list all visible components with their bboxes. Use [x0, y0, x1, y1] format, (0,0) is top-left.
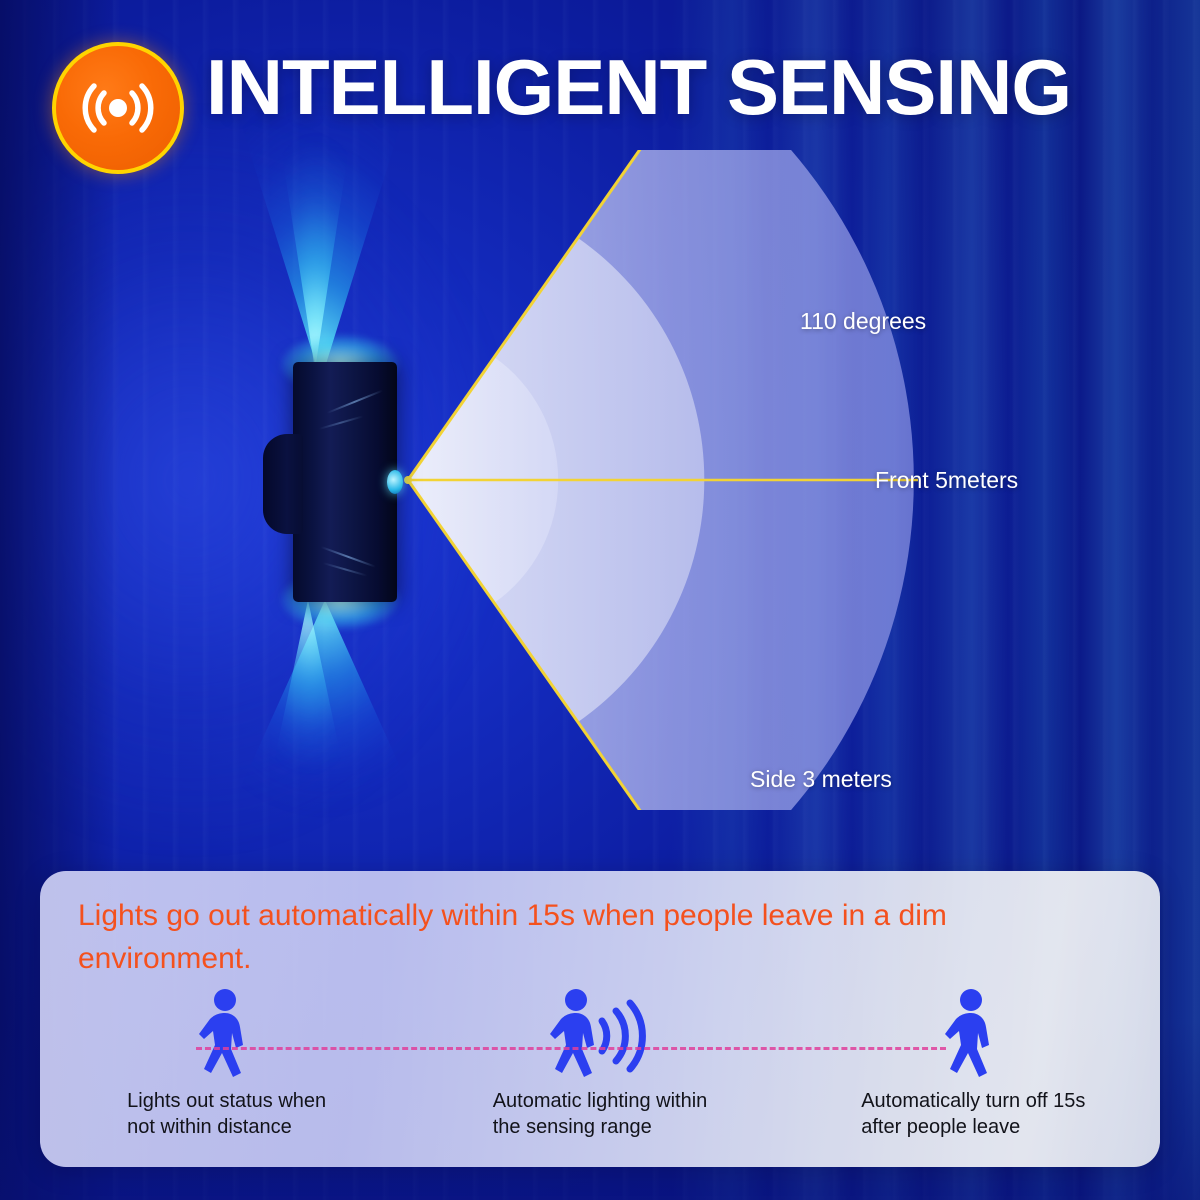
step-caption-line1: Lights out status when — [127, 1089, 326, 1115]
sensing-range-diagram — [398, 150, 918, 810]
lamp-wall-mount — [263, 434, 303, 534]
step-item: Lights out status when not within distan… — [40, 983, 413, 1153]
step-caption-line2: after people leave — [861, 1115, 1085, 1141]
walking-person-sensing-icon — [546, 987, 654, 1079]
fan-apex-point — [404, 476, 412, 484]
panel-note-text: Lights go out automatically within 15s w… — [78, 895, 1118, 980]
step-icon-box — [941, 983, 1005, 1079]
step-caption: Automatically turn off 15s after people … — [861, 1089, 1085, 1140]
label-sensing-angle: 110 degrees — [800, 308, 926, 335]
label-front-distance: Front 5meters — [875, 467, 1018, 494]
step-item: Automatically turn off 15s after people … — [787, 983, 1160, 1153]
infographic-canvas: INTELLIGENT SENSING 110 degrees Front 5m… — [0, 0, 1200, 1200]
step-item: Automatic lighting within the sensing ra… — [413, 983, 786, 1153]
lamp-body — [293, 362, 397, 602]
page-title: INTELLIGENT SENSING — [206, 48, 1166, 126]
steps-row: Lights out status when not within distan… — [40, 983, 1160, 1153]
info-panel: Lights go out automatically within 15s w… — [40, 871, 1160, 1167]
wall-lamp — [275, 352, 405, 612]
walking-person-icon — [195, 987, 259, 1079]
step-caption: Automatic lighting within the sensing ra… — [493, 1089, 708, 1140]
step-caption-line2: the sensing range — [493, 1115, 708, 1141]
step-icon-box — [546, 983, 654, 1079]
step-icon-box — [195, 983, 259, 1079]
step-caption: Lights out status when not within distan… — [127, 1089, 326, 1140]
lamp-highlight-streak — [323, 562, 368, 577]
intelligent-sensing-badge — [52, 42, 184, 174]
label-side-distance: Side 3 meters — [750, 766, 892, 793]
sensor-waves-icon — [76, 66, 160, 150]
sensing-dash-line — [196, 1047, 946, 1050]
pir-sensor-dot — [387, 470, 403, 494]
step-caption-line1: Automatic lighting within — [493, 1089, 708, 1115]
lamp-highlight-streak — [327, 390, 383, 414]
walking-person-icon — [941, 987, 1005, 1079]
step-caption-line2: not within distance — [127, 1115, 326, 1141]
lamp-highlight-streak — [319, 415, 364, 430]
step-caption-line1: Automatically turn off 15s — [861, 1089, 1085, 1115]
